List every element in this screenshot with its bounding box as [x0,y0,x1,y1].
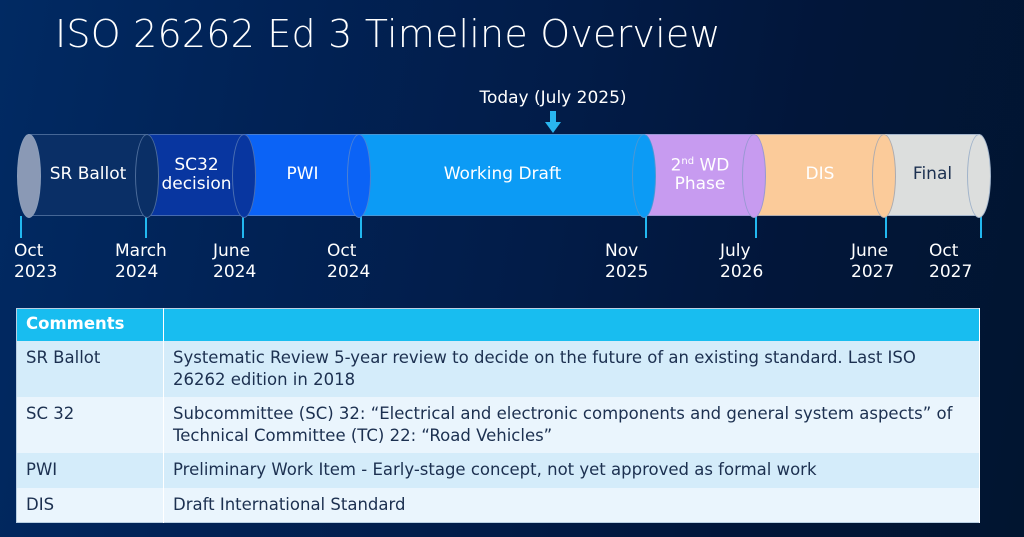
table-row: DISDraft International Standard [17,488,980,523]
date-year: 2024 [327,262,370,283]
date-month: March [115,241,167,262]
date-year: 2024 [115,262,167,283]
date-month: July [720,241,763,262]
column-header-description [164,309,980,342]
timeline-tick [145,216,147,238]
timeline-segment-pwi[interactable]: PWI [245,134,360,216]
timeline-segment-sr-ballot[interactable]: SR Ballot [28,134,148,216]
table-cell-description: Preliminary Work Item - Early-stage conc… [164,453,980,487]
timeline-segment-label: 2nd WD Phase [645,156,755,195]
timeline-segment-final[interactable]: Final [885,134,980,216]
timeline-date-label: Oct2027 [929,241,972,284]
date-year: 2025 [605,262,648,283]
date-month: June [851,241,894,262]
timeline-segment-label: Working Draft [440,165,566,184]
table-row: SC 32Subcommittee (SC) 32: “Electrical a… [17,397,980,453]
date-year: 2026 [720,262,763,283]
timeline-date-label: Nov2025 [605,241,648,284]
column-header-comments: Comments [17,309,164,342]
today-marker: Today (July 2025) [400,88,706,133]
date-year: 2027 [929,262,972,283]
date-month: June [213,241,256,262]
date-month: Nov [605,241,648,262]
timeline-date-label: July2026 [720,241,763,284]
table-cell-term: SR Ballot [17,341,164,397]
date-year: 2027 [851,262,894,283]
down-arrow-icon [542,111,564,133]
date-month: Oct [14,241,57,262]
timeline-bar: SR BallotSC32 decisionPWIWorking Draft2n… [0,134,1024,218]
timeline-tick [360,216,362,238]
timeline-tick [645,216,647,238]
timeline-tick [20,216,22,238]
table-cell-description: Systematic Review 5-year review to decid… [164,341,980,397]
comments-table: Comments SR BallotSystematic Review 5-ye… [16,308,980,523]
timeline-tick [980,216,982,238]
timeline-segment-working-draft[interactable]: Working Draft [360,134,645,216]
table-row: SR BallotSystematic Review 5-year review… [17,341,980,397]
timeline-segment-label: PWI [282,165,322,184]
date-month: Oct [929,241,972,262]
timeline-date-label: June2027 [851,241,894,284]
page-title: ISO 26262 Ed 3 Timeline Overview [55,12,721,56]
table-cell-term: PWI [17,453,164,487]
timeline-segment-label: SC32 decision [148,156,245,194]
timeline-segment-sc32-decision[interactable]: SC32 decision [148,134,245,216]
timeline-segment-label: Final [909,165,956,184]
timeline-segment-label: SR Ballot [46,165,131,184]
date-year: 2023 [14,262,57,283]
timeline-date-label: Oct2023 [14,241,57,284]
table-cell-term: DIS [17,488,164,523]
timeline-segment-label: DIS [802,165,839,184]
date-year: 2024 [213,262,256,283]
timeline-tick [885,216,887,238]
table-row: PWIPreliminary Work Item - Early-stage c… [17,453,980,487]
date-month: Oct [327,241,370,262]
timeline-date-label: Oct2024 [327,241,370,284]
timeline-segment-2nd-wd-phase[interactable]: 2nd WD Phase [645,134,755,216]
table-cell-description: Subcommittee (SC) 32: “Electrical and el… [164,397,980,453]
today-label: Today (July 2025) [400,88,706,108]
timeline-date-label: March2024 [115,241,167,284]
timeline-date-label: June2024 [213,241,256,284]
timeline-tick [755,216,757,238]
table-cell-description: Draft International Standard [164,488,980,523]
table-cell-term: SC 32 [17,397,164,453]
timeline-segment-dis[interactable]: DIS [755,134,885,216]
timeline-tick [242,216,244,238]
table-header-row: Comments [17,309,980,342]
